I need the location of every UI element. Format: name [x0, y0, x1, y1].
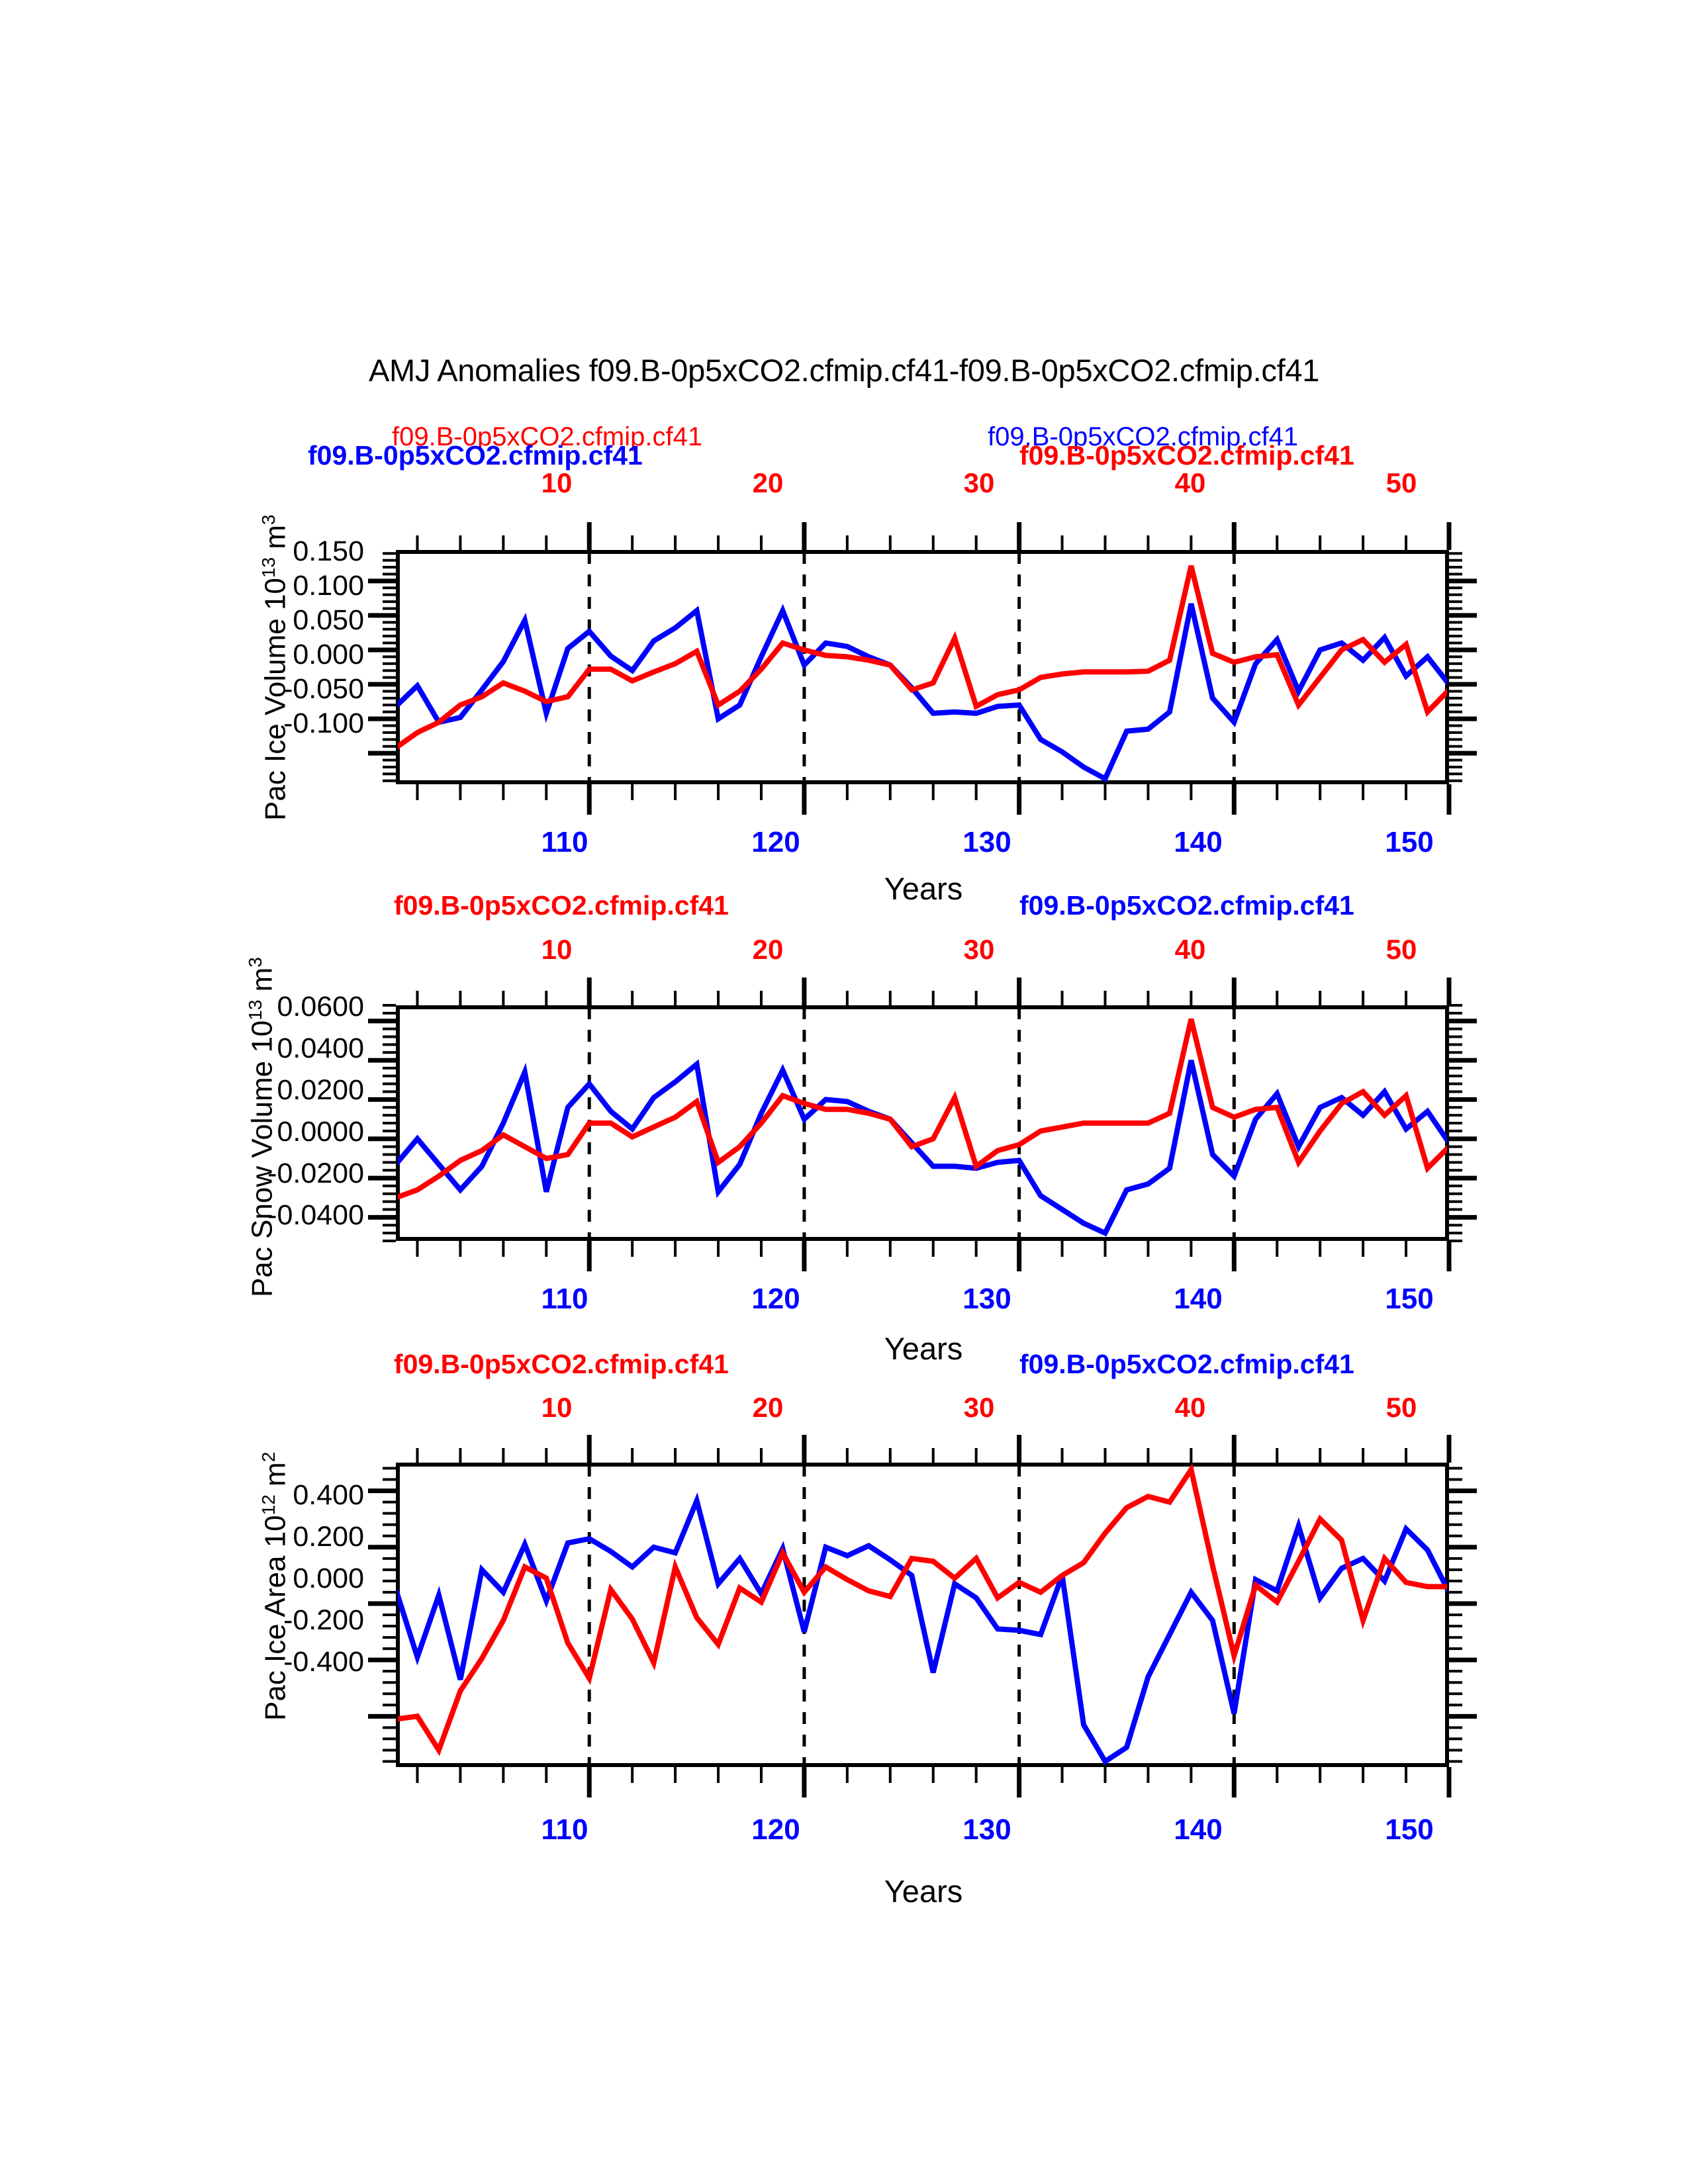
xtick-bot-p3-1: 120	[739, 1813, 812, 1846]
xtick-bot-p3-0: 110	[528, 1813, 601, 1846]
xtick-bot-p3-4: 150	[1373, 1813, 1446, 1846]
xaxis-title-p3: Years	[798, 1873, 1049, 1909]
xtick-bot-p3-3: 140	[1162, 1813, 1235, 1846]
xtick-bot-p3-2: 130	[951, 1813, 1023, 1846]
chart-page: AMJ Anomalies f09.B-0p5xCO2.cfmip.cf41-f…	[0, 0, 1688, 2184]
svg-overlay-p3	[0, 0, 1688, 2184]
